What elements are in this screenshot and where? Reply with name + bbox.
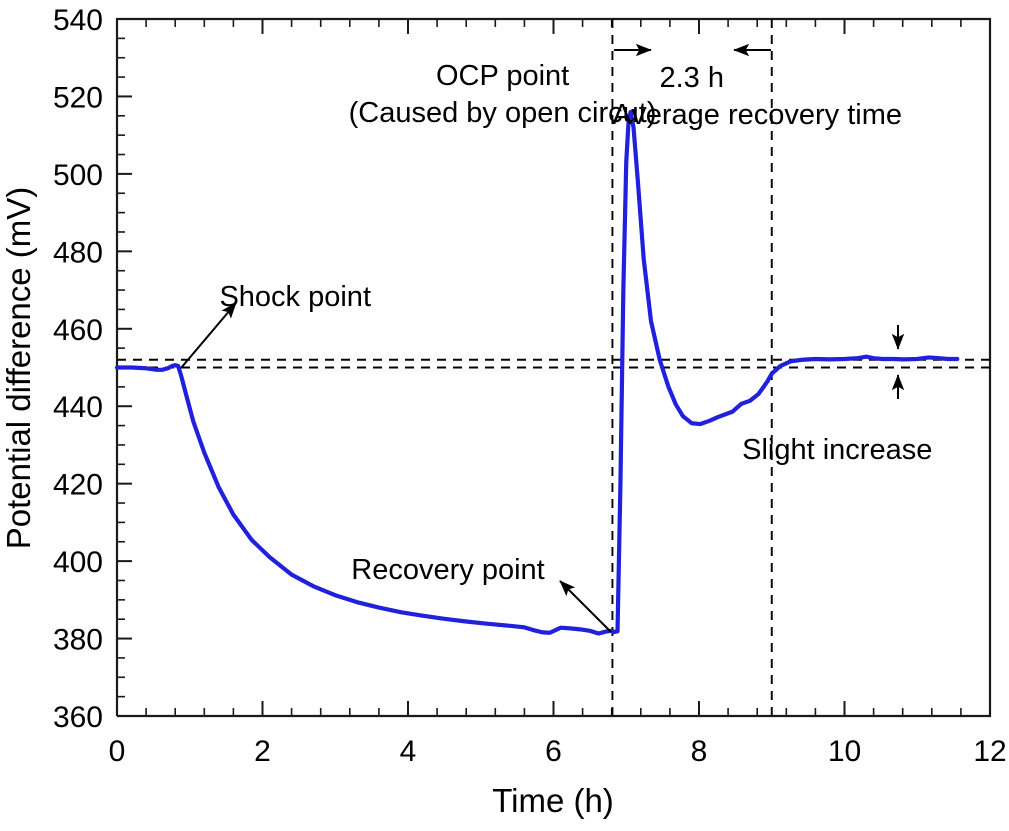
y-tick-label: 380 [53,624,103,657]
recovery-point-label: Recovery point [351,554,544,586]
x-tick-label: 6 [545,735,562,768]
recovery-duration-label: 2.3 h [659,62,724,94]
chart-figure: 024681012 360380400420440460480500520540… [0,0,1009,831]
x-axis-title: Time (h) [492,782,614,819]
annotation-text-layer: OCP point(Caused by open circut)2.3 hAve… [219,60,932,586]
y-tick-label: 400 [53,546,103,579]
x-axis-tick-labels: 024681012 [109,735,1007,768]
y-tick-label: 360 [53,701,103,734]
recovery-point-arrow [560,581,611,632]
y-tick-label: 440 [53,391,103,424]
y-tick-label: 500 [53,159,103,192]
ocp-point-label: OCP point [436,60,569,92]
x-tick-label: 4 [400,735,417,768]
x-tick-label: 12 [973,735,1006,768]
x-tick-label: 8 [691,735,708,768]
slight-increase-label: Slight increase [742,434,932,466]
y-tick-label: 540 [53,4,103,37]
potential-difference-vs-time-chart: 024681012 360380400420440460480500520540… [0,0,1009,831]
y-tick-label: 480 [53,236,103,269]
y-axis-tick-labels: 360380400420440460480500520540 [53,4,103,734]
x-tick-label: 2 [254,735,271,768]
annotation-leaders [181,50,898,632]
ocp-cause-label: (Caused by open circut) [349,97,657,129]
y-axis-title: Potential difference (mV) [0,187,37,550]
y-tick-label: 460 [53,314,103,347]
shock-point-label: Shock point [219,281,371,313]
y-tick-label: 420 [53,469,103,502]
x-tick-label: 0 [109,735,126,768]
y-tick-label: 520 [53,81,103,114]
x-tick-label: 10 [828,735,861,768]
average-recovery-time-label: Average recovery time [612,99,902,131]
